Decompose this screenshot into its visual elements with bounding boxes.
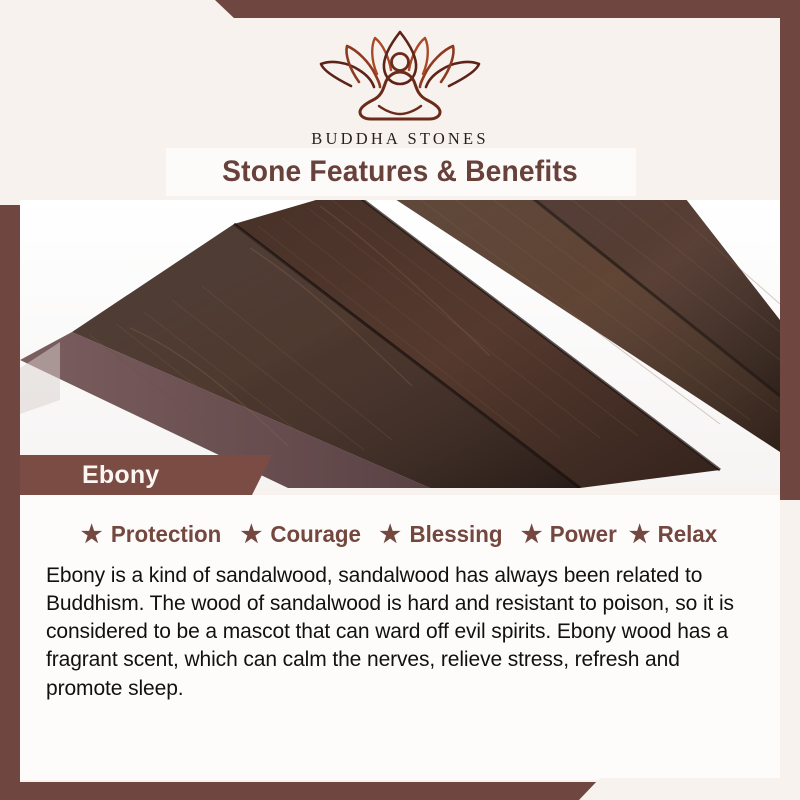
feature-label: Power	[550, 521, 617, 548]
product-description: Ebony is a kind of sandalwood, sandalwoo…	[46, 562, 754, 703]
frame-rail-bottom-right	[780, 500, 800, 800]
product-image	[20, 200, 780, 488]
star-icon: ★	[521, 523, 543, 547]
lotus-meditation-icon	[315, 26, 485, 127]
poster-root: BUDDHA STONES Stone Features & Benefits	[0, 0, 800, 800]
feature-item-courage: ★ Courage	[241, 521, 364, 548]
feature-item-relax: ★ Relax	[629, 521, 719, 548]
page-body: BUDDHA STONES Stone Features & Benefits	[20, 18, 780, 782]
feature-label: Relax	[658, 521, 718, 548]
feature-item-blessing: ★ Blessing	[379, 521, 504, 548]
corner-notch-bottom-right	[568, 778, 800, 800]
star-icon: ★	[629, 523, 651, 547]
feature-label: Protection	[111, 521, 221, 548]
brand-header: BUDDHA STONES	[20, 18, 780, 146]
title-banner: Stone Features & Benefits	[20, 148, 780, 196]
frame-rail-top-left	[0, 0, 20, 205]
star-icon: ★	[81, 523, 103, 547]
corner-notch-top-left	[0, 0, 236, 20]
product-name: Ebony	[82, 461, 159, 490]
page-title: Stone Features & Benefits	[43, 148, 757, 196]
star-icon: ★	[241, 523, 263, 547]
brand-name: BUDDHA STONES	[311, 129, 488, 149]
feature-label: Blessing	[409, 521, 502, 548]
star-icon: ★	[379, 523, 401, 547]
feature-item-protection: ★ Protection	[81, 521, 225, 548]
feature-list: ★ Protection ★ Courage ★ Blessing ★ Powe…	[20, 521, 780, 548]
feature-item-power: ★ Power	[521, 521, 619, 548]
product-name-ribbon: Ebony	[20, 455, 272, 495]
content-panel: ★ Protection ★ Courage ★ Blessing ★ Powe…	[20, 495, 780, 780]
feature-label: Courage	[270, 521, 361, 548]
